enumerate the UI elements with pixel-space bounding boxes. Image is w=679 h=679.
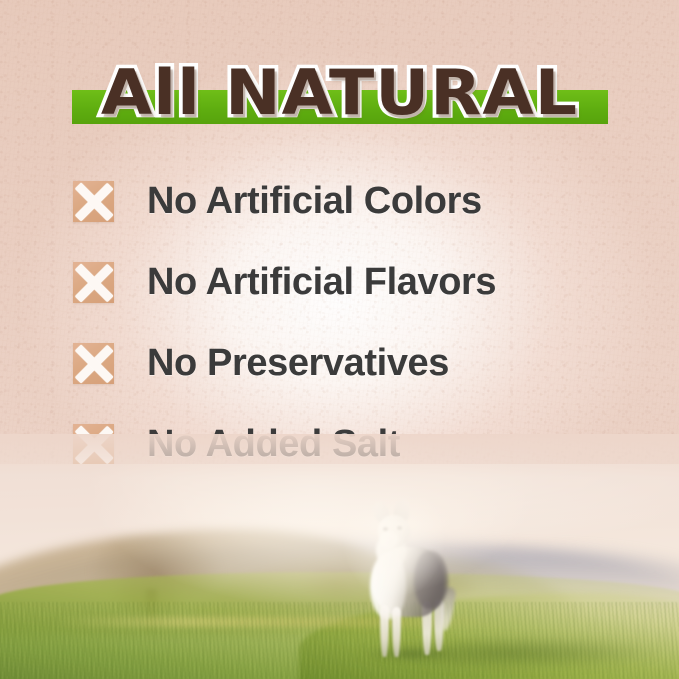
dog-photo-subject bbox=[352, 495, 458, 663]
claims-list: No Artificial Colors No Artificial Flavo… bbox=[73, 178, 633, 502]
dog-eye bbox=[383, 527, 388, 531]
claim-row: No Preservatives bbox=[73, 340, 633, 421]
claim-label: No Artificial Colors bbox=[147, 178, 482, 225]
x-mark-icon bbox=[73, 262, 114, 303]
all-natural-feature-panel: All NATURAL No Artificial Colors No Arti… bbox=[0, 0, 679, 679]
claim-label: No Artificial Flavors bbox=[147, 259, 496, 306]
claim-label: No Preservatives bbox=[147, 340, 449, 387]
claim-row: No Artificial Flavors bbox=[73, 259, 633, 340]
dog-eye bbox=[397, 526, 402, 530]
claim-label: No Added Salt bbox=[147, 421, 400, 468]
claim-row: No Artificial Colors bbox=[73, 178, 633, 259]
x-mark-icon bbox=[73, 181, 114, 222]
x-mark-icon bbox=[73, 343, 114, 384]
dog-muzzle bbox=[380, 531, 398, 549]
dog-rump bbox=[414, 551, 448, 609]
landscape-photo bbox=[0, 464, 679, 679]
headline-title: All NATURAL bbox=[0, 52, 679, 134]
headline-block: All NATURAL bbox=[0, 52, 679, 134]
x-mark-icon bbox=[73, 424, 114, 465]
